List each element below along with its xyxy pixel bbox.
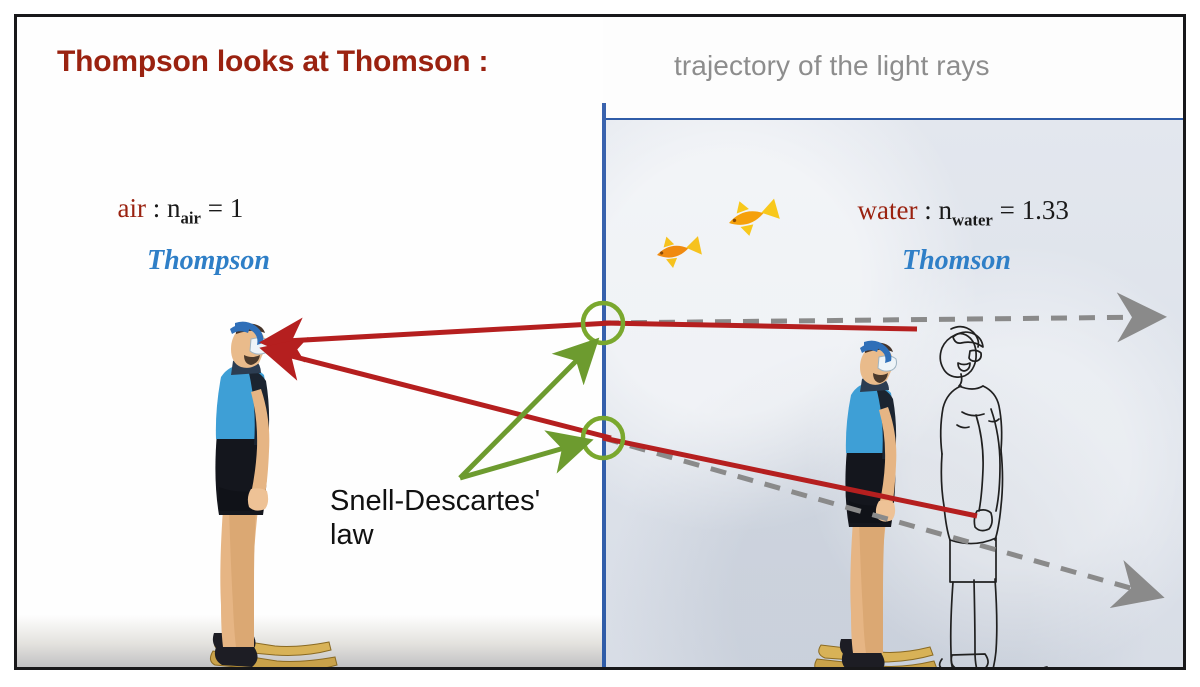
water-index-subscript: water [952, 210, 993, 229]
observed-name-label: Thomson [902, 245, 1011, 277]
figure-canvas: Thompson looks at Thomson : trajectory o… [0, 0, 1200, 687]
water-separator: : [917, 195, 938, 225]
air-index-value: 1 [230, 193, 244, 223]
water-index-value: 1.33 [1022, 195, 1069, 225]
title-right: trajectory of the light rays [674, 50, 990, 82]
air-medium-name: air [118, 193, 146, 223]
air-region [17, 17, 603, 667]
water-medium-name: water [858, 195, 918, 225]
air-separator: : [146, 193, 167, 223]
figure-frame: Thompson looks at Thomson : trajectory o… [14, 14, 1186, 670]
water-equals: = [993, 195, 1022, 225]
air-index-symbol: n [167, 193, 181, 223]
water-index-symbol: n [938, 195, 952, 225]
observer-name-label: Thompson [147, 245, 270, 277]
air-equals: = [201, 193, 230, 223]
snell-descartes-law-label: Snell-Descartes' law [330, 485, 540, 552]
ground-strip [17, 615, 603, 667]
air-index-subscript: air [181, 208, 201, 227]
title-left: Thompson looks at Thomson : [57, 45, 488, 79]
air-water-interface-line [602, 103, 606, 667]
